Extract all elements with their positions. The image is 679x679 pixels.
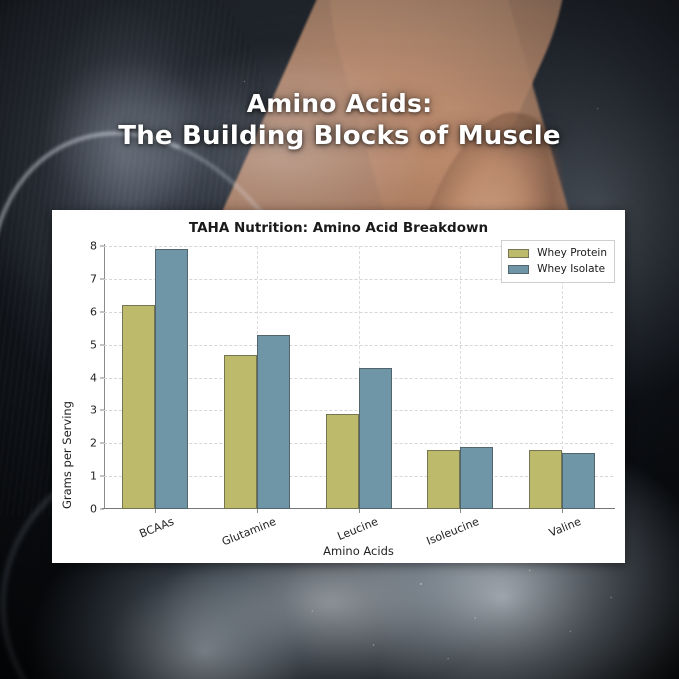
x-tick-mark — [562, 509, 563, 513]
legend-swatch-icon — [508, 265, 529, 274]
y-tick-mark — [100, 311, 104, 312]
legend-label: Whey Isolate — [537, 263, 605, 275]
y-tick-mark — [100, 246, 104, 247]
y-tick-mark — [100, 509, 104, 510]
y-tick-mark — [100, 278, 104, 279]
y-tick-label: 3 — [90, 404, 97, 417]
x-tick-label: Leucine — [335, 515, 379, 543]
x-tick-label: BCAAs — [137, 515, 175, 541]
bar-bcaas-whey-protein — [122, 305, 155, 509]
bar-bcaas-whey-isolate — [155, 249, 188, 509]
y-tick-label: 8 — [90, 240, 97, 253]
y-tick-label: 2 — [90, 437, 97, 450]
legend-item: Whey Protein — [508, 245, 607, 261]
bar-valine-whey-isolate — [562, 453, 595, 509]
plot-area: 012345678 BCAAsGlutamineLeucineIsoleucin… — [104, 246, 613, 509]
x-tick-mark — [257, 509, 258, 513]
bar-glutamine-whey-protein — [224, 355, 257, 510]
bar-leucine-whey-isolate — [359, 368, 392, 509]
legend-swatch-icon — [508, 249, 529, 258]
y-tick-label: 0 — [90, 503, 97, 516]
y-tick-mark — [100, 344, 104, 345]
y-tick-label: 5 — [90, 338, 97, 351]
x-tick-mark — [460, 509, 461, 513]
chart-legend: Whey ProteinWhey Isolate — [501, 240, 615, 283]
x-tick-mark — [359, 509, 360, 513]
y-axis-line — [104, 244, 105, 509]
headline-line-1: Amino Acids: — [0, 88, 679, 120]
y-tick-label: 1 — [90, 470, 97, 483]
bar-isoleucine-whey-isolate — [460, 447, 493, 509]
x-axis-label: Amino Acids — [104, 544, 613, 558]
poster-canvas: Amino Acids: The Building Blocks of Musc… — [0, 0, 679, 679]
y-tick-mark — [100, 443, 104, 444]
bar-leucine-whey-protein — [326, 414, 359, 509]
bar-valine-whey-protein — [529, 450, 562, 509]
x-tick-mark — [155, 509, 156, 513]
x-tick-label: Isoleucine — [425, 515, 481, 548]
bar-isoleucine-whey-protein — [427, 450, 460, 509]
y-tick-mark — [100, 410, 104, 411]
y-tick-mark — [100, 476, 104, 477]
chart-card: TAHA Nutrition: Amino Acid Breakdown Gra… — [52, 210, 625, 563]
y-tick-label: 4 — [90, 371, 97, 384]
legend-label: Whey Protein — [537, 247, 607, 259]
headline-line-2: The Building Blocks of Muscle — [0, 120, 679, 152]
x-tick-label: Valine — [547, 515, 583, 540]
chart-title: TAHA Nutrition: Amino Acid Breakdown — [52, 220, 625, 236]
y-tick-label: 6 — [90, 305, 97, 318]
bar-glutamine-whey-isolate — [257, 335, 290, 509]
y-tick-mark — [100, 377, 104, 378]
y-tick-label: 7 — [90, 272, 97, 285]
poster-headline: Amino Acids: The Building Blocks of Musc… — [0, 88, 679, 152]
y-axis-label: Grams per Serving — [60, 246, 74, 509]
legend-item: Whey Isolate — [508, 261, 607, 277]
